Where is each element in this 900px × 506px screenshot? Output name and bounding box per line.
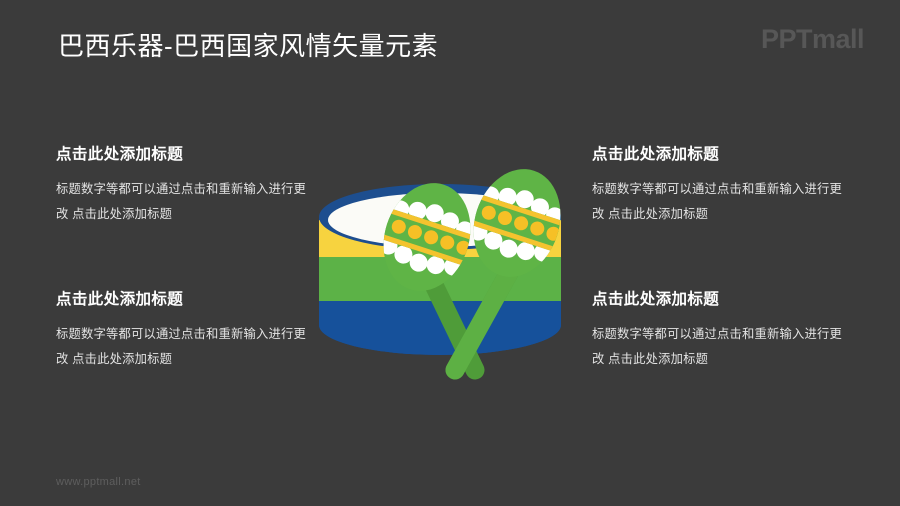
slide-canvas: 巴西乐器-巴西国家风情矢量元素 PPTmall 点击此处添加标题 标题数字等都可… [0,0,900,506]
block-title: 点击此处添加标题 [56,142,316,164]
text-block-top-left[interactable]: 点击此处添加标题 标题数字等都可以通过点击和重新输入进行更改 点击此处添加标题 [56,142,316,226]
block-title: 点击此处添加标题 [56,287,316,309]
page-title: 巴西乐器-巴西国家风情矢量元素 [58,26,438,63]
block-title: 点击此处添加标题 [592,142,852,164]
block-body: 标题数字等都可以通过点击和重新输入进行更改 点击此处添加标题 [56,177,316,226]
block-body: 标题数字等都可以通过点击和重新输入进行更改 点击此处添加标题 [592,322,852,371]
text-block-bottom-right[interactable]: 点击此处添加标题 标题数字等都可以通过点击和重新输入进行更改 点击此处添加标题 [592,287,852,371]
block-title: 点击此处添加标题 [592,287,852,309]
pptmall-logo: PPTmall [761,24,864,55]
block-body: 标题数字等都可以通过点击和重新输入进行更改 点击此处添加标题 [592,177,852,226]
footer-website-url: www.pptmall.net [56,476,141,488]
text-block-bottom-left[interactable]: 点击此处添加标题 标题数字等都可以通过点击和重新输入进行更改 点击此处添加标题 [56,287,316,371]
text-block-top-right[interactable]: 点击此处添加标题 标题数字等都可以通过点击和重新输入进行更改 点击此处添加标题 [592,142,852,226]
block-body: 标题数字等都可以通过点击和重新输入进行更改 点击此处添加标题 [56,322,316,371]
illustration-brazilian-drum-and-maracas [305,165,595,380]
